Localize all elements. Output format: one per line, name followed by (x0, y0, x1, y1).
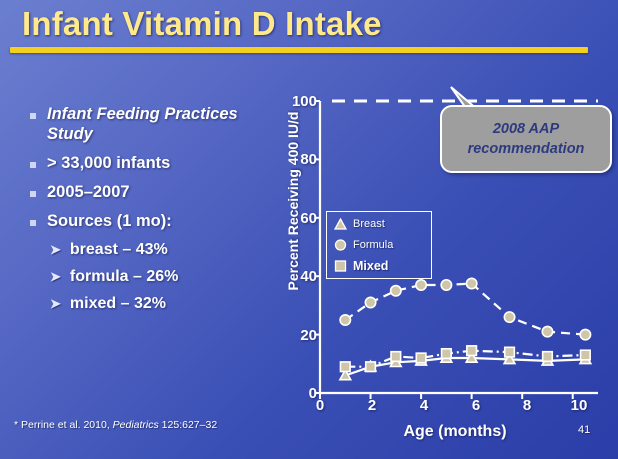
bullet-text: 2005–2007 (47, 182, 130, 202)
footnote-prefix: * Perrine et al. 2010, (14, 419, 113, 431)
data-point (543, 352, 553, 362)
data-point (466, 278, 476, 288)
data-point (416, 353, 426, 363)
data-point (391, 352, 401, 362)
data-point (365, 297, 375, 307)
legend-item-mixed: Mixed (327, 257, 431, 275)
data-point (391, 286, 401, 296)
callout-line-2: recommendation (468, 141, 585, 157)
square-bullet-icon (30, 191, 36, 197)
square-bullet-icon (30, 162, 36, 168)
square-bullet-icon (30, 113, 36, 119)
data-point (340, 362, 350, 372)
legend-label: Formula (353, 239, 393, 251)
footnote-suffix: 125:627–32 (159, 419, 217, 431)
list-item: > 33,000 infants (22, 153, 257, 173)
triangle-marker-icon (327, 218, 353, 230)
data-point (504, 312, 514, 322)
legend-item-breast: Breast (327, 215, 431, 233)
chart-legend: Breast Formula Mixed (326, 211, 432, 279)
callout-bubble: 2008 AAP recommendation (440, 105, 612, 173)
title-block: Infant Vitamin D Intake (22, 4, 602, 44)
callout-text: 2008 AAP recommendation (468, 119, 585, 159)
list-item: Infant Feeding Practices Study (22, 104, 257, 144)
data-point (442, 349, 452, 359)
list-item: 2005–2007 (22, 182, 257, 202)
bullet-text: > 33,000 infants (47, 153, 170, 173)
data-point (416, 280, 426, 290)
data-point (542, 326, 552, 336)
data-point (366, 362, 376, 372)
title-underline-rule (10, 47, 588, 53)
x-axis-label: Age (months) (360, 423, 550, 441)
sub-bullet-text: mixed – 32% (70, 294, 166, 314)
chart-figure: Percent Receiving 400 IU/d Age (months) … (250, 85, 618, 435)
chevron-right-icon: ➤ (50, 296, 61, 312)
series-breast (340, 352, 591, 379)
sub-bullet-text: breast – 43% (70, 240, 168, 260)
data-point (340, 315, 350, 325)
data-point (505, 347, 515, 357)
square-marker-icon (327, 260, 353, 272)
circle-marker-icon (327, 239, 353, 251)
legend-label: Mixed (353, 259, 388, 273)
legend-item-formula: Formula (327, 236, 431, 254)
bullet-text: Infant Feeding Practices Study (47, 104, 257, 144)
sub-list-item: ➤ mixed – 32% (50, 294, 257, 314)
chevron-right-icon: ➤ (50, 269, 61, 285)
series-formula (340, 278, 590, 340)
data-point (441, 280, 451, 290)
square-bullet-icon (30, 220, 36, 226)
list-item: Sources (1 mo): (22, 211, 257, 231)
sub-list-item: ➤ breast – 43% (50, 240, 257, 260)
data-point (467, 346, 477, 356)
legend-label: Breast (353, 218, 385, 230)
series-layer (340, 278, 591, 379)
page-title: Infant Vitamin D Intake (22, 4, 602, 44)
footnote-journal: Pediatrics (113, 419, 159, 431)
sub-bullet-text: formula – 26% (70, 267, 178, 287)
callout-line-1: 2008 AAP (493, 121, 559, 137)
data-point (580, 329, 590, 339)
bullet-text: Sources (1 mo): (47, 211, 172, 231)
sub-list-item: ➤ formula – 26% (50, 267, 257, 287)
chevron-right-icon: ➤ (50, 242, 61, 258)
data-point (581, 350, 591, 360)
footnote-citation: * Perrine et al. 2010, Pediatrics 125:62… (14, 419, 217, 431)
bullet-list: Infant Feeding Practices Study > 33,000 … (22, 104, 257, 321)
